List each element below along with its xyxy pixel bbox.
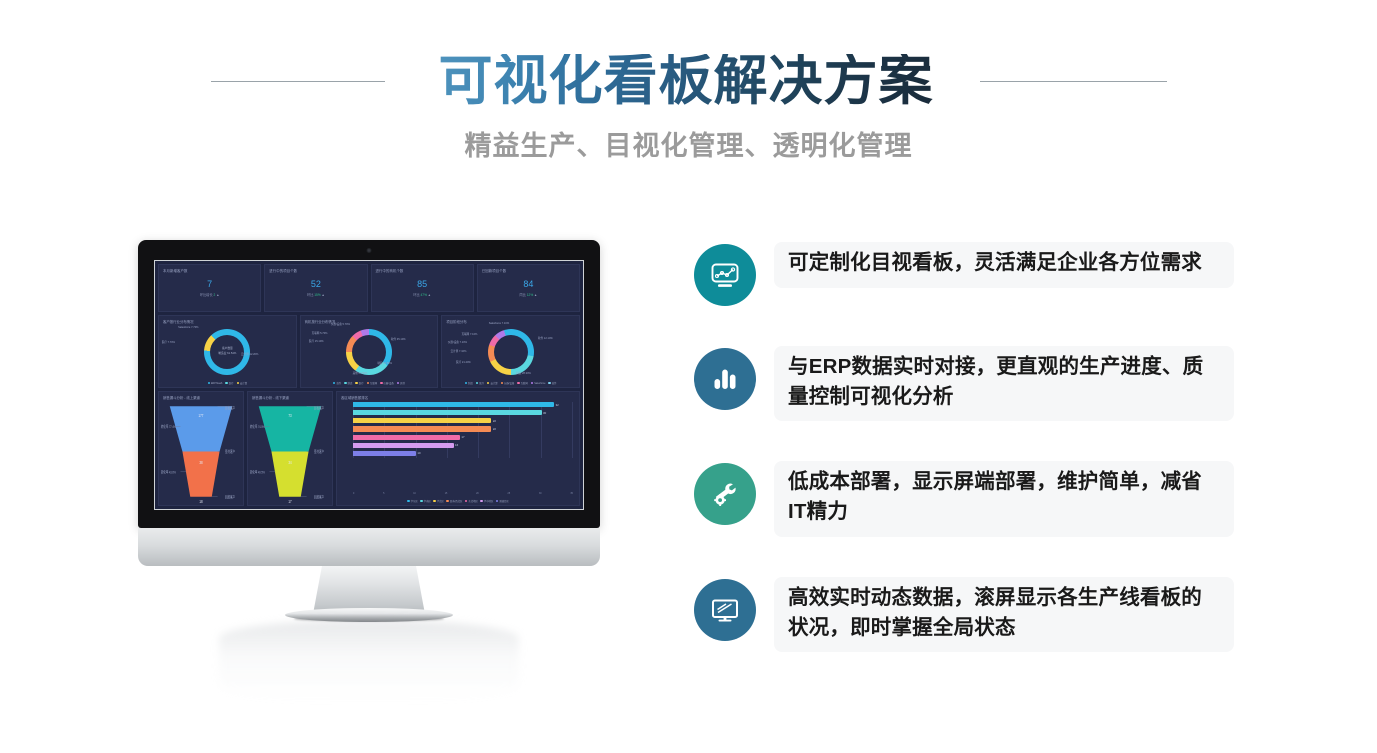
donut-center: 客户数量 制造业 61.54%	[204, 329, 250, 375]
funnel-stage-label: 回款客户	[225, 494, 235, 500]
donut-slice-label: 医疗 15.10%	[309, 339, 324, 343]
funnel-conversion-label: 转化率 49.5%	[250, 469, 265, 475]
axis-tick: 20	[476, 493, 479, 495]
page-header: 可视化看板解决方案 精益生产、目视化管理、透明化管理	[0, 0, 1377, 190]
donut-slice-label: Salesforce 7.70%	[178, 326, 198, 329]
bar-row: 10	[353, 451, 573, 456]
legend-item: 华中地区	[480, 499, 493, 503]
kpi-sub-label: 环比	[413, 293, 419, 297]
axis-tick: 35	[570, 493, 573, 495]
legend-item: 互联网	[517, 381, 528, 385]
bar-row: 17	[353, 435, 573, 440]
feature-text: 与ERP数据实时对接，更直观的生产进度、质量控制可视化分析	[788, 352, 1220, 411]
feature-text: 低成本部署，显示屏端部署，维护简单，减省IT精力	[788, 467, 1220, 526]
legend-item: 云计算	[487, 381, 498, 385]
funnel-value: 17	[288, 498, 291, 503]
wrench-gear-icon	[694, 463, 756, 525]
axis-tick: 5	[383, 493, 384, 495]
kpi-delta: 12%	[527, 293, 533, 297]
bar-value: 22	[493, 427, 496, 431]
kpi-body: 84 同比 12% ▲	[478, 280, 579, 297]
funnel-value: 177	[199, 412, 204, 418]
legend-item: 港澳台区	[496, 499, 509, 503]
kpi-title: 进行中的商机个数	[376, 268, 469, 273]
card-title: 项目阶段分布	[446, 319, 575, 324]
donut-slice-label: Salesforce 7.10%	[489, 322, 509, 325]
kpi-sub-label: 环比	[307, 293, 313, 297]
funnel-conversion-label: 转化率 77.4%	[161, 423, 176, 429]
kpi-body: 52 环比 15% ▲	[265, 280, 366, 297]
legend-item: 云计算	[237, 381, 248, 385]
legend-item: 制造	[344, 381, 352, 385]
kpi-title: 本月新增客户数	[163, 268, 256, 273]
bar-row: 30	[353, 410, 573, 415]
kpi-card[interactable]: 进行中的项目个数 52 环比 15% ▲	[264, 264, 367, 312]
monitor-bezel: 本月新增客户数 7 环比增长 2 ▲ 进行中的项目个数 52	[138, 240, 600, 528]
donut-card[interactable]: 客户按行业分布情况 客户数量 制造业 61.54% ERP/SaaS医疗云计算 …	[158, 315, 297, 388]
legend-item: 互联网	[367, 381, 378, 385]
donut-row: 客户按行业分布情况 客户数量 制造业 61.54% ERP/SaaS医疗云计算 …	[158, 315, 580, 388]
donut-chart	[488, 329, 534, 375]
bar-value: 16	[455, 443, 458, 447]
legend-item: 仪器/设备	[380, 381, 394, 385]
kpi-value: 7	[159, 280, 260, 290]
bar-legend: 华东区华南区华北区西南/西北区东北地区华中地区港澳台区	[337, 499, 579, 503]
funnel-value: 38	[199, 459, 202, 465]
donut-legend: 制造医疗云计算仪器/设备互联网Salesforce软件	[442, 381, 579, 385]
bar-row: 22	[353, 418, 573, 423]
kpi-sub-label: 环比增长	[200, 293, 213, 297]
legend-item: 软件	[333, 381, 341, 385]
kpi-sub: 环比增长 2 ▲	[159, 292, 260, 297]
monitor-display-icon	[694, 579, 756, 641]
axis-tick: 15	[445, 493, 448, 495]
legend-item: 软件	[548, 381, 556, 385]
legend-item: 医疗	[476, 381, 484, 385]
title-rule-right	[980, 81, 1167, 82]
donut-slice-label: 仪器/设备 7.10%	[448, 340, 467, 344]
funnel-value: 18	[199, 498, 202, 503]
kpi-title: 已回款项目个数	[482, 268, 575, 273]
legend-item: 其他	[397, 381, 405, 385]
donut-legend: 软件制造医疗互联网仪器/设备其他	[301, 381, 438, 385]
monitor-chin	[138, 528, 600, 566]
kpi-row: 本月新增客户数 7 环比增长 2 ▲ 进行中的项目个数 52	[158, 264, 580, 312]
kpi-title: 进行中的项目个数	[269, 268, 362, 273]
bar-axis: 05101520253035	[353, 493, 573, 495]
bar	[353, 402, 554, 407]
feature-text: 高效实时动态数据，滚屏显示各生产线看板的状况，即时掌握全局状态	[788, 583, 1220, 642]
kpi-sub: 环比 15% ▲	[265, 292, 366, 297]
feature-item[interactable]: 与ERP数据实时对接，更直观的生产进度、质量控制可视化分析	[694, 348, 1234, 421]
funnel-conversion-label: 转化率 43.6%	[161, 469, 176, 475]
axis-tick: 0	[353, 493, 354, 495]
funnel-stage-label: 签约客户	[314, 448, 324, 454]
card-title: 商机按行业分布情况	[305, 319, 434, 324]
donut-slice-label: 制造 24.50%	[377, 361, 392, 365]
legend-item: 华北区	[433, 499, 444, 503]
kpi-delta: 15%	[314, 293, 320, 297]
kpi-sub: 环比 47% ▲	[372, 292, 473, 297]
kpi-card[interactable]: 进行中的商机个数 85 环比 47% ▲	[371, 264, 474, 312]
funnel-stage-label: 目标客户	[225, 405, 235, 411]
legend-item: 西南/西北区	[446, 499, 462, 503]
kpi-delta: 2	[214, 293, 216, 297]
donut-card[interactable]: 商机按行业分布情况 软件制造医疗互联网仪器/设备其他 仪器/设备 5.70%互联…	[300, 315, 439, 388]
monitor-screen: 本月新增客户数 7 环比增长 2 ▲ 进行中的项目个数 52	[154, 260, 584, 510]
bar-row: 22	[353, 426, 573, 431]
donut-slice-label: 互联网 5.70%	[312, 331, 328, 335]
dashboard: 本月新增客户数 7 环比增长 2 ▲ 进行中的项目个数 52	[155, 261, 583, 509]
legend-item: 华南区	[420, 499, 431, 503]
bar-value: 30	[543, 411, 546, 415]
feature-item[interactable]: 低成本部署，显示屏端部署，维护简单，减省IT精力	[694, 463, 1234, 536]
donut-slice-label: 其他 24.50%	[353, 371, 368, 375]
monitor-linechart-icon	[694, 244, 756, 306]
legend-item: 华东区	[407, 499, 418, 503]
bar	[353, 435, 460, 440]
feature-text: 可定制化目视看板，灵活满足企业各方位需求	[788, 248, 1220, 278]
card-title: 各区域销售额排名	[341, 395, 575, 400]
bar-chart-card[interactable]: 各区域销售额排名 32 30 22 22 17 16 10	[336, 391, 580, 506]
feature-item[interactable]: 可定制化目视看板，灵活满足企业各方位需求	[694, 244, 1234, 306]
legend-item: 制造	[465, 381, 473, 385]
funnel-chart: 73目标客户转化率 74.5%34签约客户转化率 49.5%17回款客户	[248, 400, 332, 503]
title-rule-left	[211, 81, 385, 82]
monitor-reflection	[219, 620, 519, 702]
feature-text-panel: 高效实时动态数据，滚屏显示各生产线看板的状况，即时掌握全局状态	[774, 577, 1234, 652]
kpi-card[interactable]: 本月新增客户数 7 环比增长 2 ▲	[158, 264, 261, 312]
title-row: 可视化看板解决方案	[0, 42, 1377, 120]
funnel-card[interactable]: 销售漏斗分析 - 线上渠道 177目标客户转化率 77.4%38签约客户转化率 …	[158, 391, 244, 506]
feature-text-panel: 与ERP数据实时对接，更直观的生产进度、质量控制可视化分析	[774, 346, 1234, 421]
bar	[353, 410, 542, 415]
legend-item: ERP/SaaS	[208, 381, 223, 385]
funnel-value: 73	[288, 412, 291, 418]
bar	[353, 426, 491, 431]
kpi-value: 52	[265, 280, 366, 290]
donut-slice-label: 软件 35.10%	[391, 337, 406, 341]
funnel-stage-label: 回款客户	[314, 494, 324, 500]
feature-list: 可定制化目视看板，灵活满足企业各方位需求 与ERP数据实时对接，更直观的生产进度…	[694, 244, 1234, 652]
feature-text-panel: 可定制化目视看板，灵活满足企业各方位需求	[774, 242, 1234, 288]
legend-item: Salesforce	[531, 381, 546, 385]
funnel-stage-label: 目标客户	[314, 405, 324, 411]
bar-value: 17	[461, 435, 464, 439]
legend-item: 东北地区	[465, 499, 478, 503]
legend-item: 医疗	[355, 381, 363, 385]
bar-row: 32	[353, 402, 573, 407]
kpi-sub: 同比 12% ▲	[478, 292, 579, 297]
funnel-card[interactable]: 销售漏斗分析 - 线下渠道 73目标客户转化率 74.5%34签约客户转化率 4…	[247, 391, 333, 506]
axis-tick: 30	[539, 493, 542, 495]
donut-slice-label: 医疗 7.70%	[162, 340, 175, 344]
donut-chart	[346, 329, 392, 375]
donut-slice-label: 互联网 7.10%	[461, 332, 477, 336]
bar-value: 32	[556, 403, 559, 407]
donut-card[interactable]: 项目阶段分布 制造医疗云计算仪器/设备互联网Salesforce软件 Sales…	[441, 315, 580, 388]
bar-chart-icon	[694, 348, 756, 410]
legend-item: 仪器/设备	[501, 381, 515, 385]
kpi-sub-label: 同比	[520, 293, 526, 297]
funnel-conversion-label: 转化率 74.5%	[250, 423, 265, 429]
axis-tick: 10	[413, 493, 416, 495]
bar	[353, 443, 454, 448]
feature-item[interactable]: 高效实时动态数据，滚屏显示各生产线看板的状况，即时掌握全局状态	[694, 579, 1234, 652]
feature-text-panel: 低成本部署，显示屏端部署，维护简单，减省IT精力	[774, 461, 1234, 536]
bar-row: 16	[353, 443, 573, 448]
donut-chart: 客户数量 制造业 61.54%	[204, 329, 250, 375]
donut-slice-label: 仪器/设备 5.70%	[331, 322, 350, 326]
monitor-stand-neck	[313, 566, 425, 614]
kpi-body: 85 环比 47% ▲	[372, 280, 473, 297]
donut-center-line2: 制造业 61.54%	[218, 352, 236, 356]
legend-item: 医疗	[225, 381, 233, 385]
bar	[353, 451, 416, 456]
bar	[353, 418, 491, 423]
card-title: 客户按行业分布情况	[163, 319, 292, 324]
chart-row: 销售漏斗分析 - 线上渠道 177目标客户转化率 77.4%38签约客户转化率 …	[158, 391, 580, 506]
page-title: 可视化看板解决方案	[439, 54, 934, 108]
funnel-stage-label: 签约客户	[225, 448, 235, 454]
axis-tick: 25	[508, 493, 511, 495]
donut-slice-label: 软件 12.10%	[538, 336, 553, 340]
donut-area: 客户数量 制造业 61.54%	[159, 325, 296, 378]
donut-slice-label: 云计算 7.10%	[451, 349, 467, 353]
page-subtitle: 精益生产、目视化管理、透明化管理	[0, 124, 1377, 163]
kpi-value: 85	[372, 280, 473, 290]
kpi-value: 84	[478, 280, 579, 290]
kpi-body: 7 环比增长 2 ▲	[159, 280, 260, 297]
donut-slice-label: 医疗 21.40%	[456, 360, 471, 364]
donut-slice-label: 制造 28.30%	[516, 371, 531, 375]
donut-legend: ERP/SaaS医疗云计算	[159, 381, 296, 385]
webcam-icon	[367, 248, 372, 253]
funnel-chart: 177目标客户转化率 77.4%38签约客户转化率 43.6%18回款客户	[159, 400, 243, 503]
bar-value: 10	[417, 451, 420, 455]
kpi-card[interactable]: 已回款项目个数 84 同比 12% ▲	[477, 264, 580, 312]
monitor-mockup: 本月新增客户数 7 环比增长 2 ▲ 进行中的项目个数 52	[104, 228, 634, 688]
kpi-delta: 47%	[421, 293, 427, 297]
bar-value: 22	[493, 419, 496, 423]
bar-list: 32 30 22 22 17 16 10	[353, 402, 573, 456]
